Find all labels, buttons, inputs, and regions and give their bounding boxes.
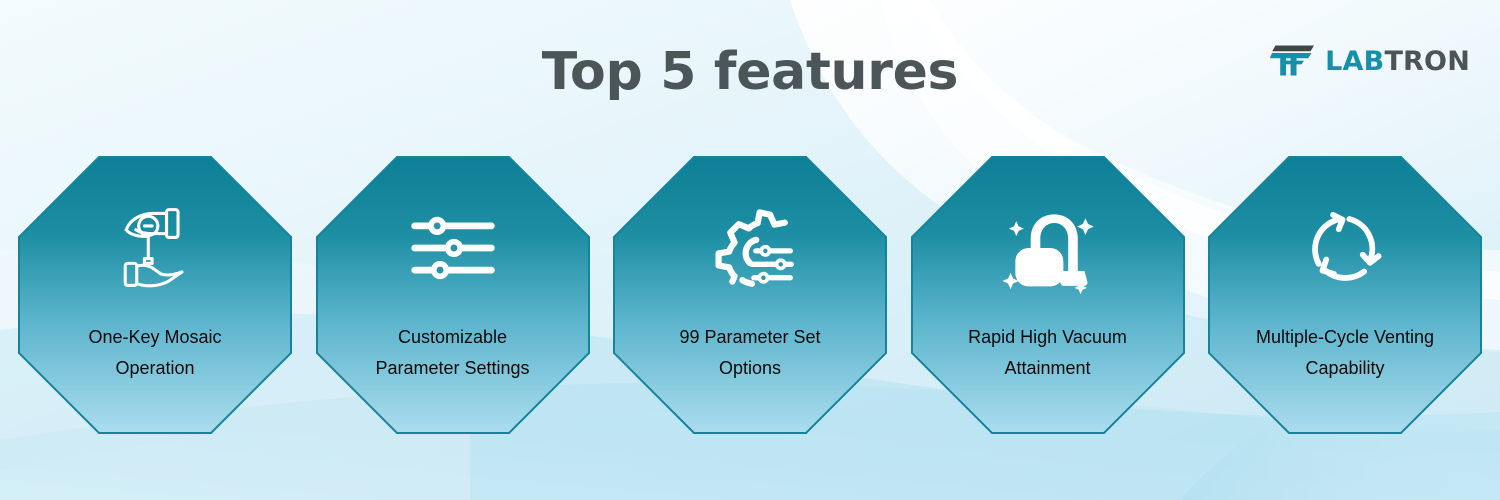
feature-label-5-line2: Capability bbox=[1219, 353, 1471, 384]
cycle-arrows-icon bbox=[1297, 200, 1393, 296]
feature-label-4: Rapid High Vacuum Attainment bbox=[922, 322, 1174, 384]
labtron-tt-monogram-icon bbox=[1270, 44, 1316, 78]
feature-label-3-line1: 99 Parameter Set bbox=[624, 322, 876, 353]
brand-wordmark-tron: TRON bbox=[1384, 46, 1470, 77]
brand-logo: LABTRON bbox=[1270, 44, 1470, 78]
feature-label-5: Multiple-Cycle Venting Capability bbox=[1219, 322, 1471, 384]
feature-label-2: Customizable Parameter Settings bbox=[327, 322, 579, 384]
feature-label-2-line2: Parameter Settings bbox=[327, 353, 579, 384]
vacuum-cleaner-sparkle-icon bbox=[1000, 200, 1096, 296]
brand-wordmark-lab: LAB bbox=[1325, 46, 1384, 77]
feature-card-3[interactable]: 99 Parameter Set Options bbox=[613, 156, 887, 434]
feature-label-4-line2: Attainment bbox=[922, 353, 1174, 384]
brand-wordmark: LABTRON bbox=[1325, 48, 1470, 75]
feature-card-1[interactable]: One-Key Mosaic Operation bbox=[18, 156, 292, 434]
feature-card-2[interactable]: Customizable Parameter Settings bbox=[316, 156, 590, 434]
feature-label-2-line1: Customizable bbox=[327, 322, 579, 353]
gear-sliders-icon bbox=[702, 200, 798, 296]
sliders-settings-icon bbox=[405, 200, 501, 296]
feature-label-1: One-Key Mosaic Operation bbox=[29, 322, 281, 384]
feature-label-3: 99 Parameter Set Options bbox=[624, 322, 876, 384]
feature-card-4[interactable]: Rapid High Vacuum Attainment bbox=[911, 156, 1185, 434]
feature-label-3-line2: Options bbox=[624, 353, 876, 384]
feature-card-5[interactable]: Multiple-Cycle Venting Capability bbox=[1208, 156, 1482, 434]
feature-label-1-line2: Operation bbox=[29, 353, 281, 384]
hammer-in-hand-icon bbox=[107, 200, 203, 296]
page-header: Top 5 features LABTRON bbox=[0, 0, 1500, 140]
feature-label-5-line1: Multiple-Cycle Venting bbox=[1219, 322, 1471, 353]
features-row: One-Key Mosaic Operation bbox=[18, 156, 1482, 436]
feature-label-1-line1: One-Key Mosaic bbox=[29, 322, 281, 353]
feature-label-4-line1: Rapid High Vacuum bbox=[922, 322, 1174, 353]
